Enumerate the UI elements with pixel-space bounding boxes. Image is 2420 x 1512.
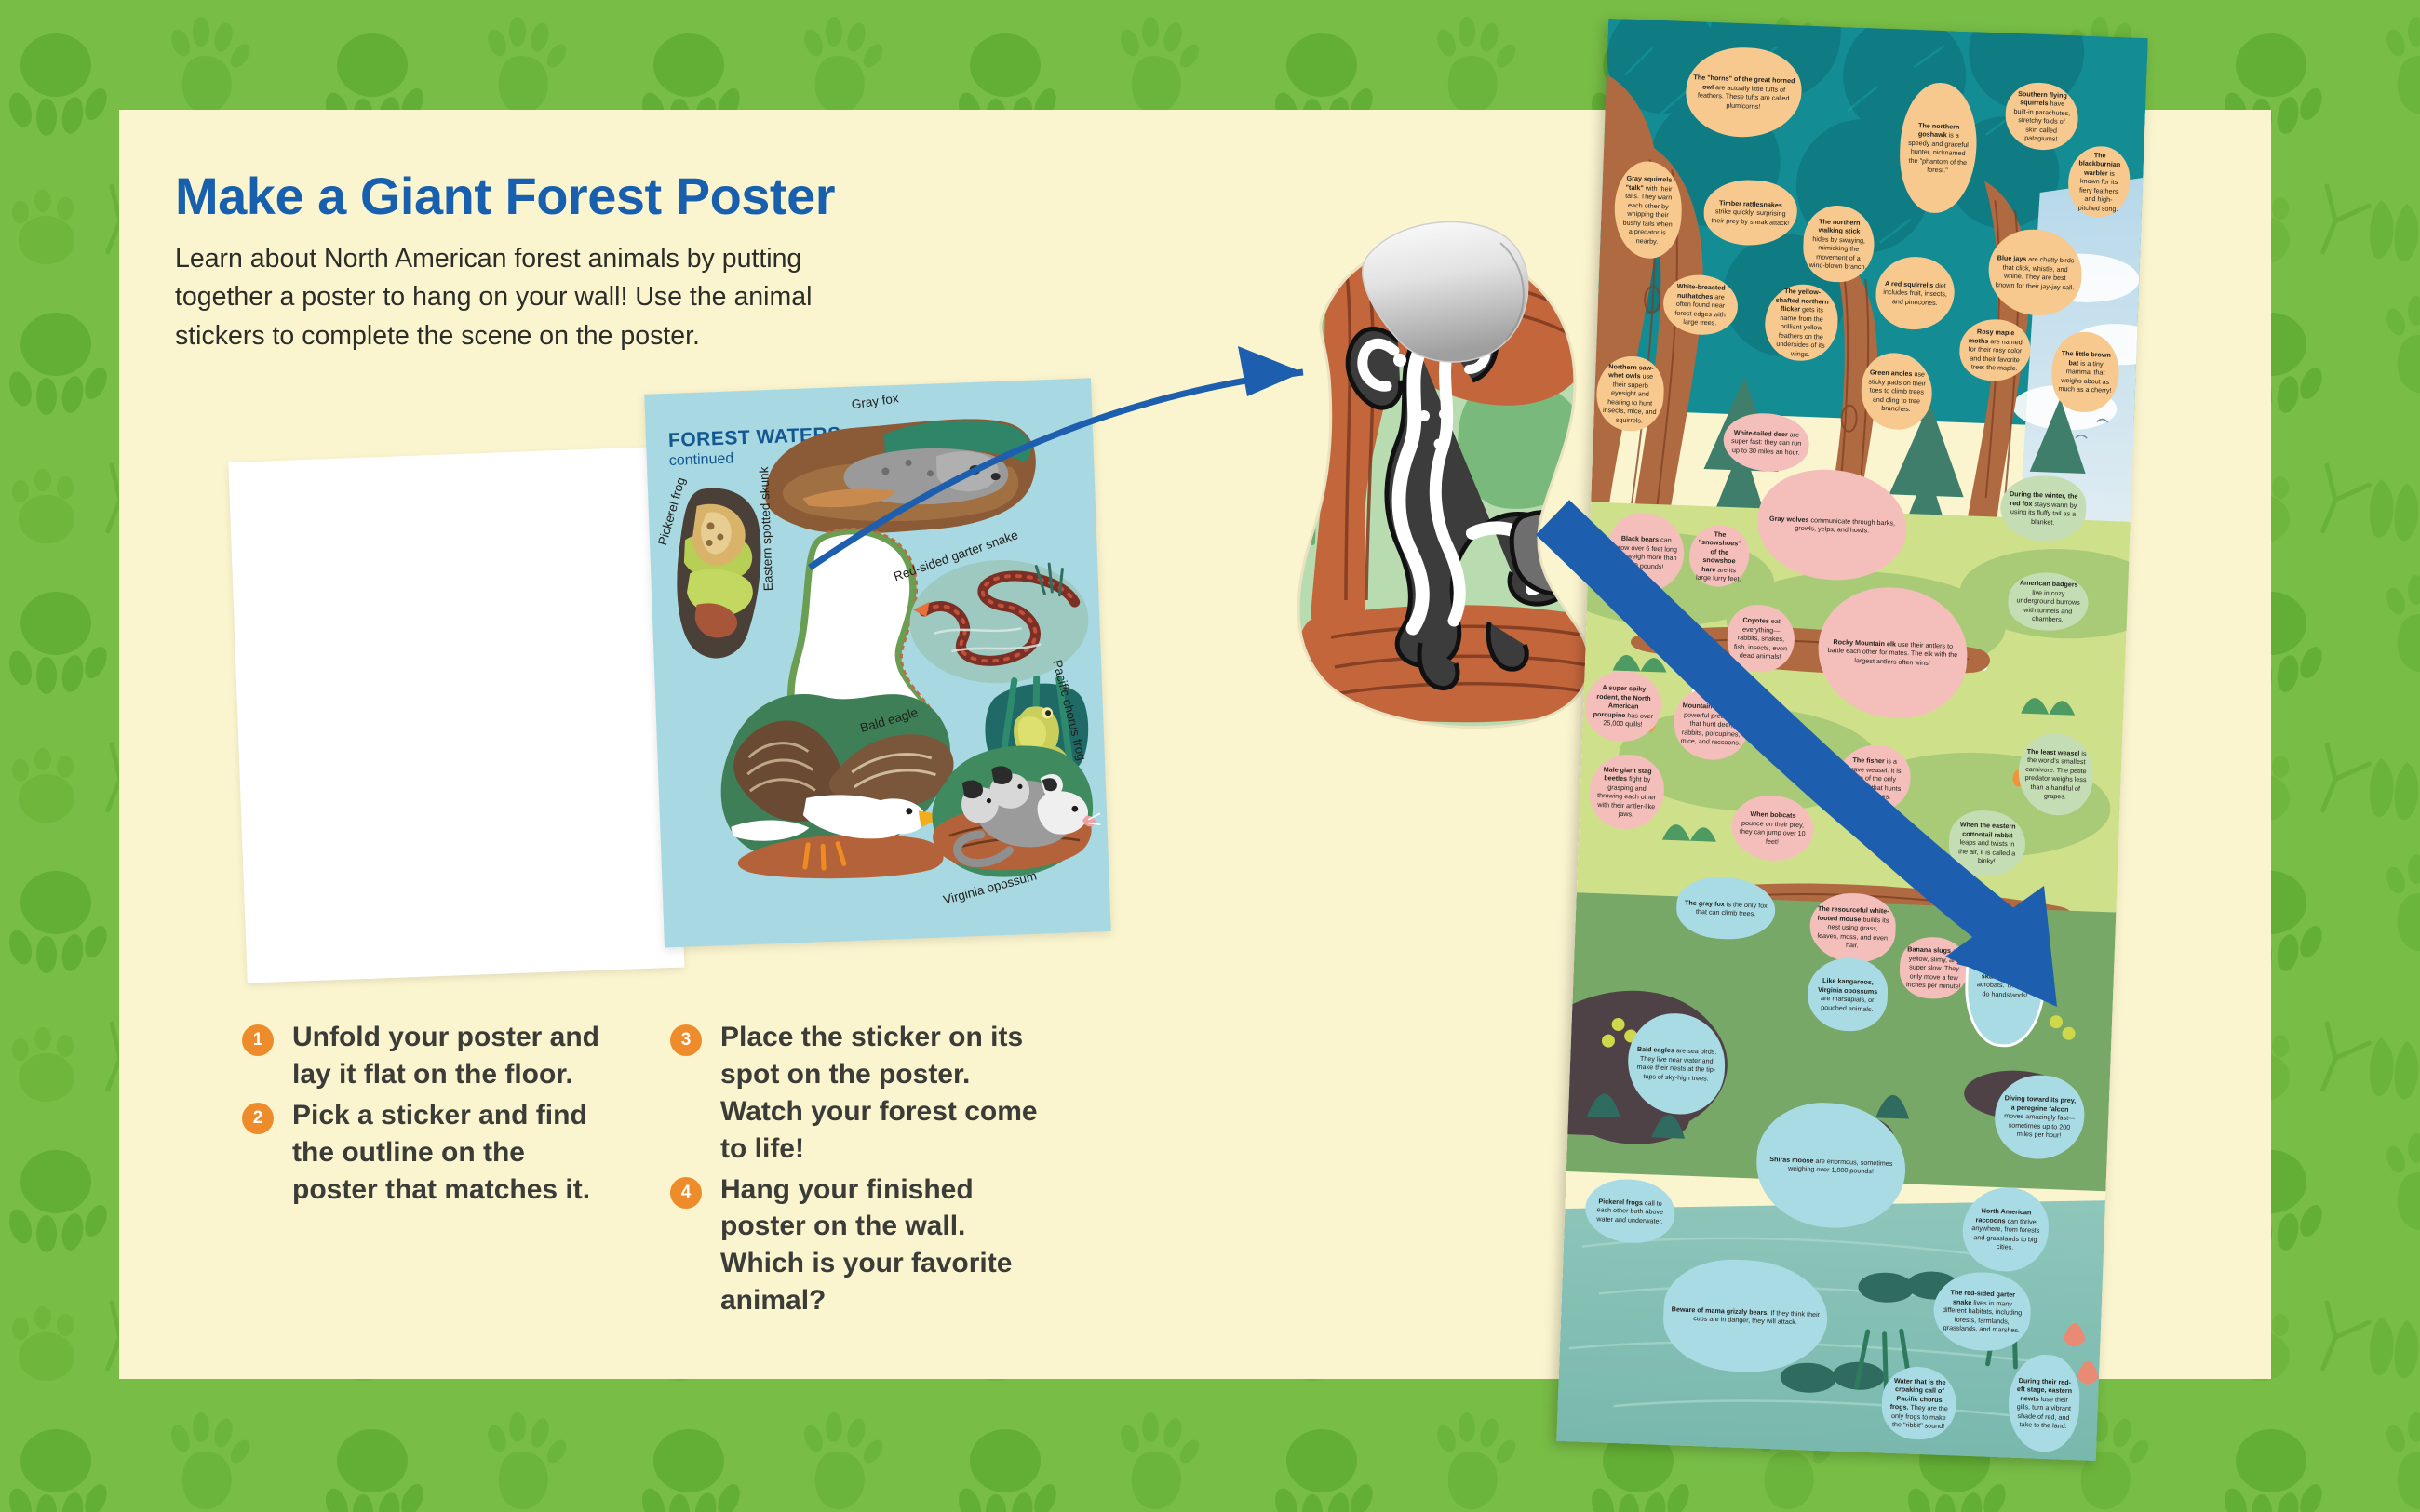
forest-poster[interactable]: The "horns" of the great horned owl are … [1556,19,2148,1461]
step-1: 1 Unfold your poster and lay it flat on … [242,1019,605,1093]
step-number-2: 2 [242,1103,274,1134]
steps-column-left: 1 Unfold your poster and lay it flat on … [242,1019,605,1211]
step-text-4: Hang your finished poster on the wall. W… [720,1171,1042,1320]
poster-callout: The yellow-shafted northern flicker gets… [1764,283,1839,362]
step-text-1: Unfold your poster and lay it flat on th… [292,1019,605,1093]
poster-callout: Water that is the croaking call of Pacif… [1881,1366,1958,1441]
poster-callout: Southern flying squirrels have built-in … [2004,82,2079,152]
step-4: 4 Hang your finished poster on the wall.… [670,1171,1042,1320]
poster-callout: Northern saw-whet owls use their superb … [1595,355,1665,433]
sticker-sheet-right-page: FOREST WATERS, continued Gray fox Pic [644,378,1110,947]
sticker-sheet-spread[interactable]: FOREST WATERS, continued Gray fox Pic [222,399,1132,1006]
steps-column-right: 3 Place the sticker on its spot on the p… [670,1019,1042,1323]
step-number-4: 4 [670,1177,702,1209]
step-number-3: 3 [670,1024,702,1056]
step-3: 3 Place the sticker on its spot on the p… [670,1019,1042,1168]
step-number-1: 1 [242,1024,274,1056]
poster-callout: The "snowshoes" of the snowshoe hare are… [1688,524,1750,587]
step-text-3: Place the sticker on its spot on the pos… [720,1019,1042,1168]
step-text-2: Pick a sticker and find the outline on t… [292,1097,605,1209]
sticker-sheet-left-page [228,447,684,983]
intro-paragraph: Learn about North American forest animal… [175,240,817,355]
poster-callout: Rosy maple moths are named for their ros… [1958,318,2031,382]
poster-callout: American badgers live in cozy undergroun… [2007,571,2089,632]
sticker-virginia-opossum[interactable] [925,733,1103,889]
step-2: 2 Pick a sticker and find the outline on… [242,1097,605,1209]
poster-callout: Male giant stag beetles fight by graspin… [1588,754,1665,831]
sticker-pickerel-frog[interactable] [665,481,773,671]
page-title: Make a Giant Forest Poster [175,166,835,226]
poster-callout: The blackburnian warbler is known for it… [2067,145,2131,218]
